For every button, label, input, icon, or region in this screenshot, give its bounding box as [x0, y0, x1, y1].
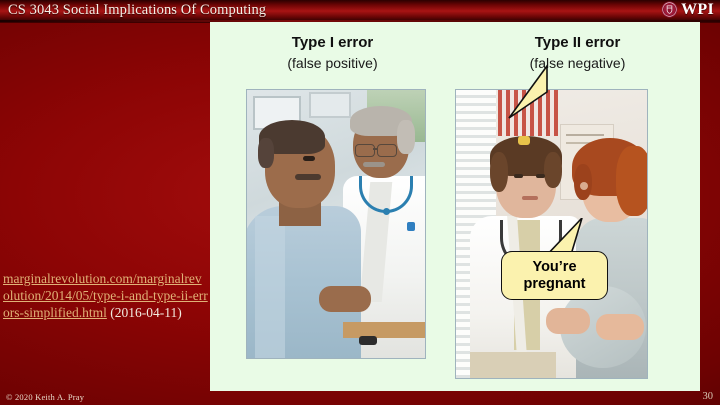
source-date: (2016-04-11) [107, 305, 182, 320]
slide-header: CS 3043 Social Implications Of Computing… [0, 0, 720, 22]
column-type-i: Type I error (false positive) [210, 22, 455, 391]
slide: CS 3043 Social Implications Of Computing… [0, 0, 720, 405]
copyright-notice: © 2020 Keith A. Pray [6, 392, 84, 402]
content-panel: Type I error (false positive) [210, 22, 700, 391]
column-type-ii: Type II error (false negative) [455, 22, 700, 391]
wpi-seal-icon [661, 1, 678, 18]
slide-number: 30 [703, 391, 714, 402]
doctor-male-patient-photo [246, 89, 426, 359]
reference-citation: marginalrevolution.com/marginalrevolutio… [3, 270, 208, 321]
page-title: CS 3043 Social Implications Of Computing [8, 2, 266, 19]
type-i-subtitle: (false positive) [210, 55, 455, 71]
type-ii-title: Type II error [455, 34, 700, 51]
wpi-brand: WPI [661, 1, 714, 18]
type-ii-subtitle: (false negative) [455, 55, 700, 71]
speech-bubble-type-i: You’re pregnant [501, 251, 608, 300]
wpi-wordmark: WPI [681, 1, 714, 18]
speech-bubble-tail-right [507, 62, 553, 122]
speech-bubble-type-i-text: You’re pregnant [502, 259, 607, 293]
type-i-title: Type I error [210, 34, 455, 51]
